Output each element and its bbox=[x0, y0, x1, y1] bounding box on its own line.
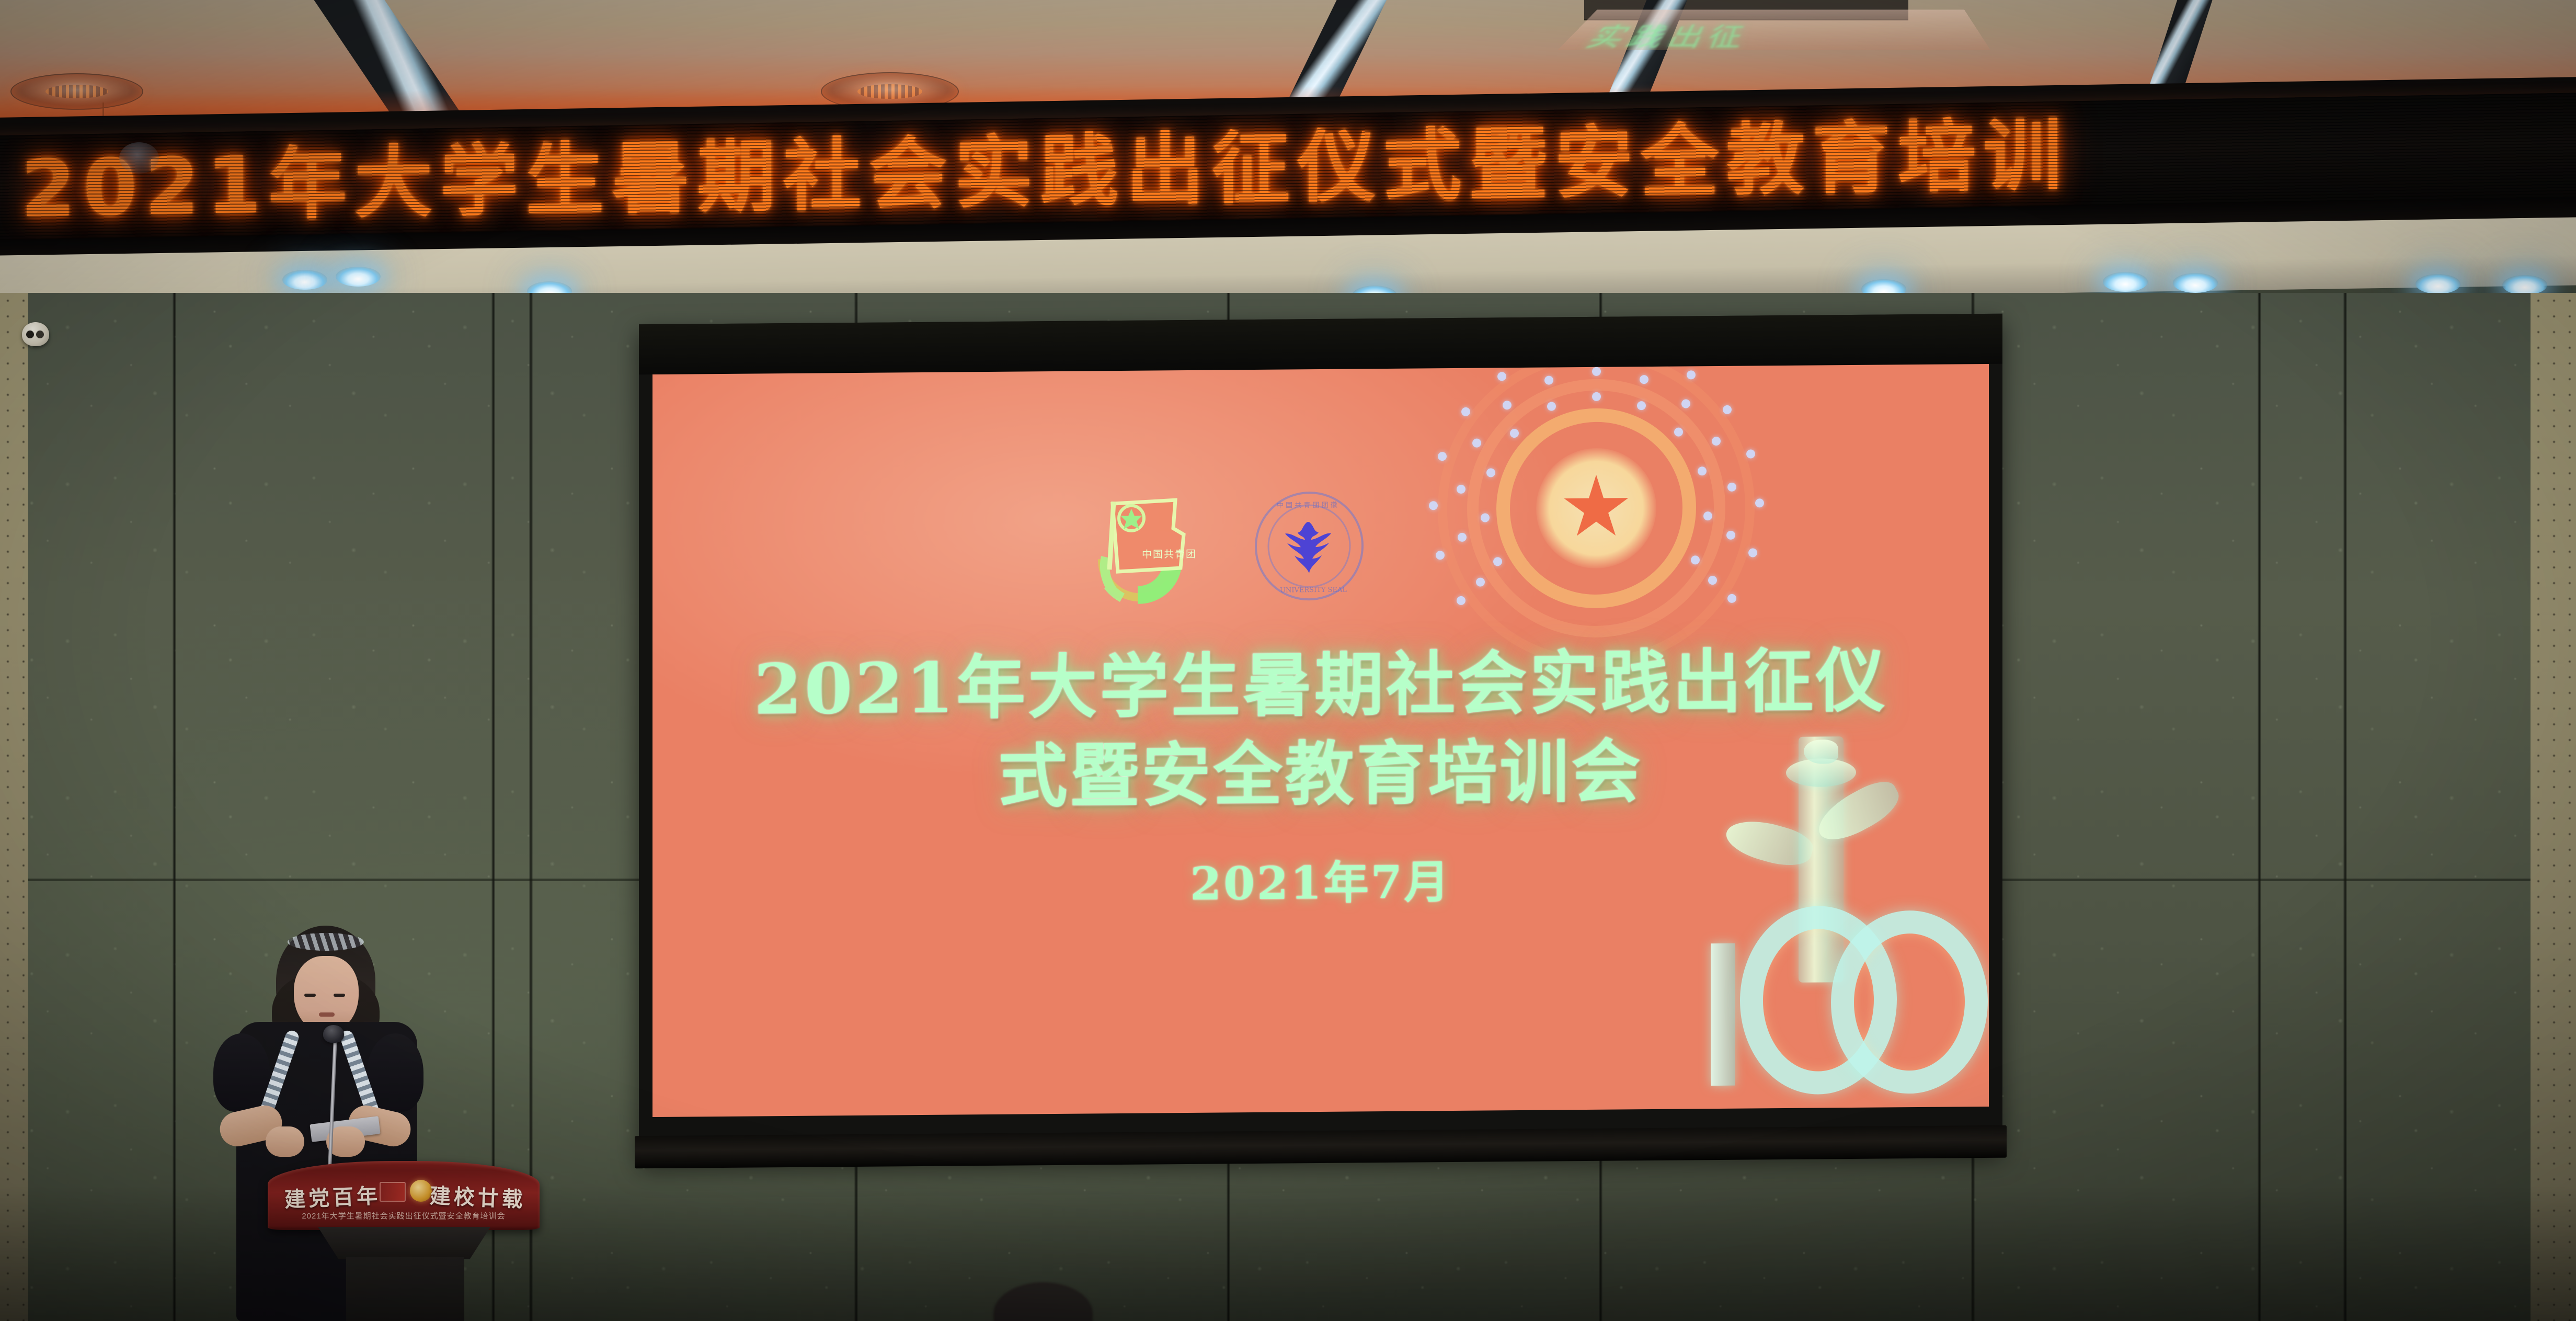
burst-dot bbox=[1746, 449, 1755, 458]
burst-dot bbox=[1458, 533, 1467, 542]
perforated-acoustic-panel bbox=[2531, 293, 2576, 1321]
burst-dot bbox=[1436, 551, 1445, 560]
national-flag-badge-icon bbox=[380, 1182, 406, 1202]
auditorium-photo: 实践出征 2021年大学生暑期社会实践出征仪式暨安全教育培训 bbox=[0, 0, 2576, 1321]
burst-dot-arcs bbox=[1424, 364, 1769, 682]
cyl-flag-text: 中国共青团 bbox=[1142, 549, 1197, 561]
eye bbox=[304, 994, 316, 997]
burst-dot bbox=[1547, 402, 1556, 411]
burst-dot bbox=[1476, 577, 1485, 586]
led-downlight bbox=[2173, 273, 2218, 293]
burst-dot bbox=[1457, 596, 1466, 605]
burst-dot bbox=[1592, 392, 1601, 401]
burst-dot bbox=[1640, 375, 1648, 384]
digit-one bbox=[1711, 943, 1735, 1086]
burst-dot bbox=[1727, 594, 1736, 603]
slide-title-line1: 2021年大学生暑期社会实践出征仪 bbox=[754, 640, 1887, 730]
cpc-centenary-100-emblem bbox=[1707, 736, 1952, 1104]
burst-dot bbox=[1472, 439, 1481, 448]
digit-zero bbox=[1831, 910, 1988, 1094]
led-downlight bbox=[2103, 272, 2148, 292]
presenter-hand bbox=[266, 1126, 304, 1157]
presentation-slide: 中国共青团 中 国 共 青 团 团 徽 UNIVERSITY SEAL 2021… bbox=[652, 364, 1989, 1117]
led-downlight bbox=[2415, 274, 2460, 294]
university-seal: 中 国 共 青 团 团 徽 UNIVERSITY SEAL bbox=[1253, 489, 1366, 603]
podium-base bbox=[346, 1257, 464, 1321]
reflection-text: 实践出征 bbox=[1577, 17, 1754, 50]
gold-party-emblem-icon bbox=[410, 1180, 432, 1202]
led-downlight bbox=[336, 267, 381, 287]
burst-dot bbox=[1493, 557, 1502, 566]
burst-dot bbox=[1681, 400, 1690, 408]
microphone-icon bbox=[323, 1025, 344, 1043]
podium-right-text: 建校廿载 bbox=[429, 1179, 526, 1213]
ceiling-slide-reflection: 实践出征 bbox=[1558, 9, 1991, 50]
burst-dot bbox=[1510, 429, 1519, 438]
speaker-podium: 建党百年 建校廿载 2021年大学生暑期社会实践出征仪式暨安全教育培训会 bbox=[268, 1161, 540, 1321]
svg-text:UNIVERSITY SEAL: UNIVERSITY SEAL bbox=[1280, 586, 1347, 595]
burst-dot bbox=[1637, 401, 1646, 410]
huabiao-finial bbox=[1804, 739, 1838, 764]
eye bbox=[334, 994, 345, 997]
led-downlight bbox=[282, 270, 327, 290]
burst-dot bbox=[1726, 531, 1735, 540]
burst-dot bbox=[1461, 407, 1470, 416]
wall-vertical-joint bbox=[2258, 293, 2261, 1321]
podium-left-text: 建党百年 bbox=[284, 1179, 381, 1213]
dome-security-camera bbox=[22, 322, 49, 346]
burst-dot bbox=[1703, 512, 1712, 521]
burst-dot bbox=[1481, 514, 1490, 522]
communist-youth-league-emblem: 中国共青团 bbox=[1081, 480, 1212, 612]
projection-screen: 中国共青团 中 国 共 青 团 团 徽 UNIVERSITY SEAL 2021… bbox=[639, 314, 2002, 1161]
burst-dot bbox=[1727, 482, 1736, 491]
burst-dot bbox=[1723, 405, 1732, 414]
burst-dot bbox=[1544, 376, 1553, 385]
podium-subtitle: 2021年大学生暑期社会实践出征仪式暨安全教育培训会 bbox=[268, 1210, 540, 1221]
led-downlight bbox=[2502, 275, 2547, 295]
burst-dot bbox=[1503, 401, 1512, 409]
wall-vertical-joint bbox=[2343, 293, 2347, 1321]
burst-dot bbox=[1486, 468, 1495, 477]
burst-dot bbox=[1712, 437, 1721, 446]
podium-neck bbox=[318, 1227, 490, 1259]
burst-dot bbox=[1497, 372, 1506, 381]
burst-dot bbox=[1698, 466, 1707, 475]
mouth bbox=[319, 1012, 335, 1017]
slide-logo-row: 中国共青团 中 国 共 青 团 团 徽 UNIVERSITY SEAL bbox=[1081, 478, 1437, 627]
burst-dot bbox=[1592, 367, 1601, 376]
burst-dot bbox=[1674, 427, 1683, 436]
burst-dot bbox=[1691, 556, 1700, 565]
burst-dot bbox=[1708, 576, 1717, 585]
perforated-acoustic-panel bbox=[0, 293, 28, 1321]
burst-dot bbox=[1687, 370, 1696, 379]
burst-dot bbox=[1438, 452, 1447, 461]
wall-vertical-joint bbox=[173, 293, 176, 1321]
burst-dot bbox=[1748, 549, 1757, 557]
podium-front-panel: 建党百年 建校廿载 2021年大学生暑期社会实践出征仪式暨安全教育培训会 bbox=[268, 1161, 540, 1230]
svg-text:中 国 共 青 团 团 徽: 中 国 共 青 团 团 徽 bbox=[1277, 502, 1337, 510]
burst-dot bbox=[1755, 499, 1764, 508]
burst-dot bbox=[1457, 484, 1466, 493]
podium-base-seal bbox=[119, 142, 159, 174]
dress-sleeve bbox=[213, 1033, 270, 1112]
